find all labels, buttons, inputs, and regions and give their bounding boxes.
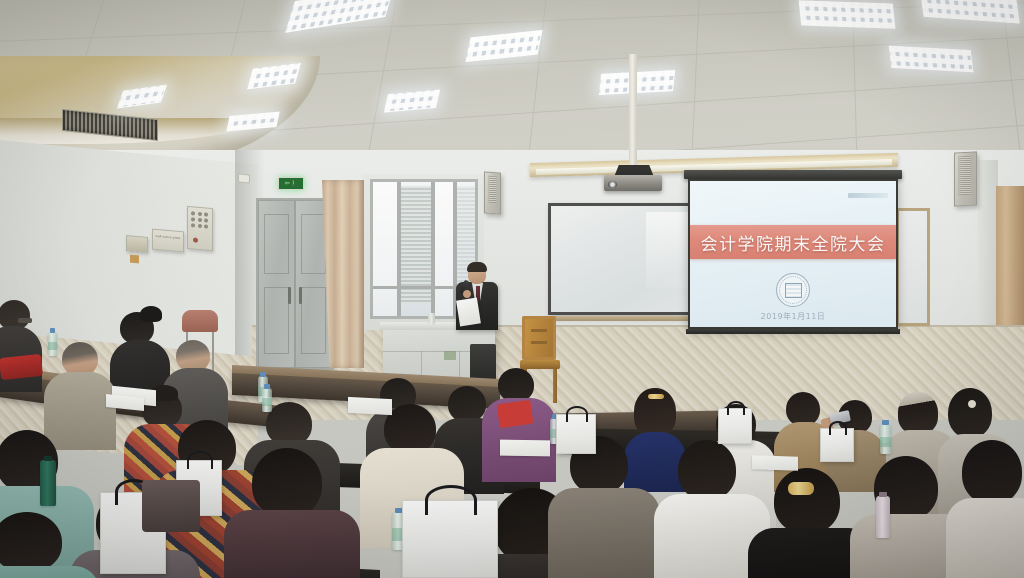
hair-clip [788, 482, 814, 495]
white-shopping-bag [718, 408, 752, 444]
projector-mount-pole [629, 54, 637, 172]
ceiling-light-panel [599, 70, 675, 95]
presenter-hand [463, 290, 471, 298]
water-bottle [48, 332, 57, 356]
red-jacket-on-chair [0, 354, 43, 380]
double-door[interactable] [256, 198, 334, 370]
projector-lens-icon [608, 181, 617, 188]
wall-notice-plate: wall-notice-plate [152, 229, 184, 253]
handout-paper [456, 298, 481, 327]
white-shopping-bag [820, 428, 854, 462]
control-panel-indicators [188, 207, 212, 233]
chair-back [522, 316, 556, 360]
exit-sign: ⇦ 🚶 [278, 177, 304, 190]
slide-title-banner: 会计学院期末全院大会 [690, 225, 896, 259]
water-bottle [880, 424, 891, 454]
projection-screen-case [684, 170, 902, 179]
notice-board [896, 208, 930, 326]
lecture-hall-photo: wall-notice-plate ⇦ 🚶 [0, 0, 1024, 578]
control-panel-lamp [193, 237, 198, 242]
wall-plaque [126, 235, 148, 253]
electrical-control-panel[interactable] [187, 206, 213, 251]
slide-title-text: 会计学院期末全院大会 [701, 230, 886, 255]
whiteboard-glare [646, 212, 690, 288]
eyeglasses-icon [18, 318, 32, 323]
water-bottle [876, 496, 890, 538]
hair-pin [968, 400, 976, 408]
smoke-detector [238, 173, 250, 183]
lectern-plate [444, 351, 456, 360]
wall-plaque-tag [130, 255, 139, 264]
hair-bun [140, 306, 162, 322]
handbag [142, 480, 200, 532]
handout-paper [348, 397, 392, 415]
door-leaf-left[interactable] [258, 200, 295, 368]
slide-date-text: 2019年1月11日 [690, 311, 896, 322]
wall-speaker-right [954, 151, 977, 206]
water-cup [428, 313, 435, 325]
handout-paper [500, 440, 550, 457]
red-scarf [496, 400, 533, 428]
wall-speaker-left [484, 171, 501, 214]
projection-screen-weight-bar [686, 329, 900, 334]
slide-watermark [848, 193, 888, 198]
white-shopping-bag [402, 500, 498, 578]
thermos-bottle [40, 460, 56, 506]
white-shopping-bag [556, 414, 596, 454]
chair-seat [520, 360, 560, 369]
whiteboard-tray [545, 316, 703, 321]
university-seal-icon [776, 273, 810, 307]
ceiling-light-panel [799, 0, 896, 28]
handout-paper [752, 455, 798, 471]
water-bottle [262, 388, 272, 412]
exit-sign-glyph: ⇦ 🚶 [285, 181, 298, 187]
ceiling-light-panel [889, 46, 974, 72]
projection-screen: 会计学院期末全院大会 2019年1月11日 [688, 179, 898, 329]
wall-notice-plate-label: wall-notice-plate [153, 230, 183, 242]
presenter-hair [467, 262, 487, 272]
hair-clip [648, 394, 664, 399]
